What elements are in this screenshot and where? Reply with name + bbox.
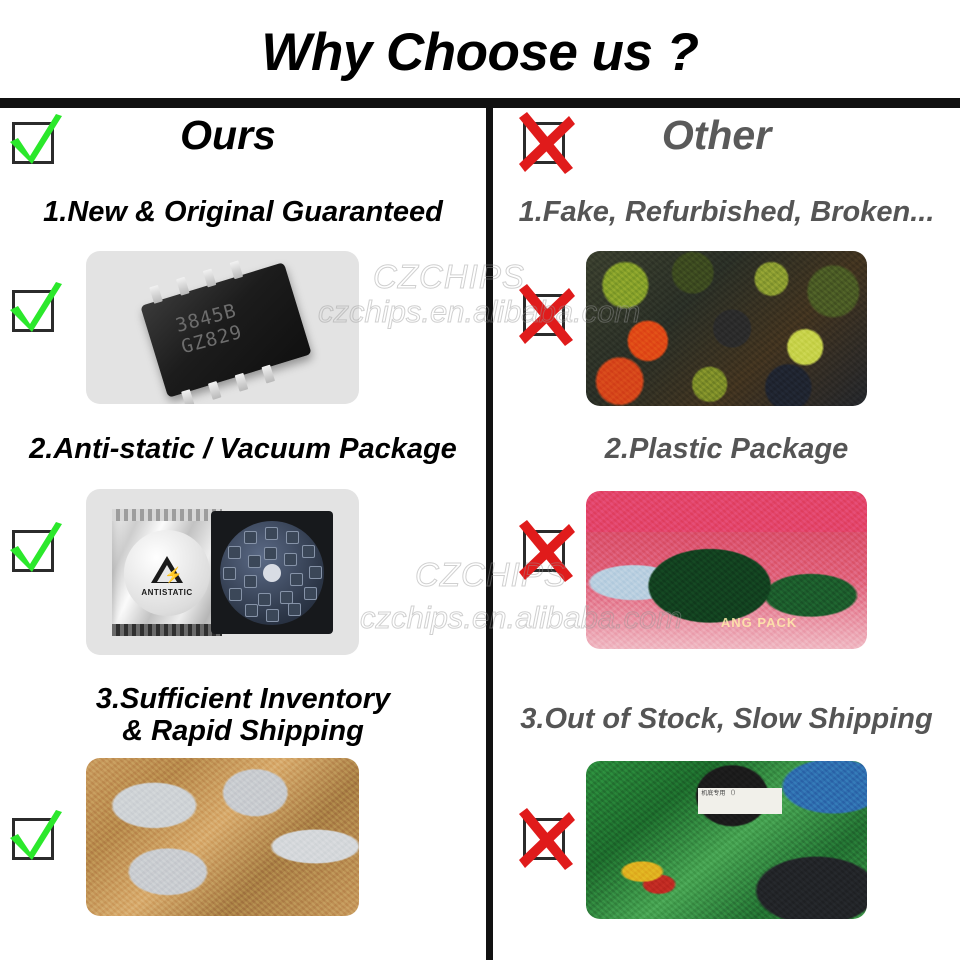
scrap-paper-label: 机底专用 （） — [698, 788, 782, 814]
photo-pink-plastic-bag-pcbs: ANG PACK — [586, 491, 867, 649]
vertical-divider — [486, 108, 493, 960]
lightning-bolt-icon: ⚡ — [164, 568, 183, 583]
photo-texture — [86, 758, 359, 916]
antistatic-bag: ⚡ ANTISTATIC — [112, 509, 222, 636]
horizontal-divider — [0, 98, 960, 108]
column-heading-ours: Ours — [0, 112, 486, 159]
ic-chip-body: 3845B GZ829 — [140, 262, 312, 398]
green-check-icon-3 — [4, 808, 68, 872]
red-cross-icon-2 — [515, 520, 579, 584]
column-ours: Ours 1.New & Original Guaranteed — [0, 108, 486, 960]
red-cross-icon-header — [515, 112, 579, 176]
antistatic-label: ANTISTATIC — [124, 588, 210, 597]
reel-hub — [263, 564, 281, 582]
feature-title-ours-2: 2.Anti-static / Vacuum Package — [0, 433, 486, 465]
photo-texture — [586, 761, 867, 919]
photo-scrap-cpu-pile — [586, 251, 867, 406]
chip-marking: 3845B GZ829 — [173, 299, 245, 358]
why-choose-us-comparison-graphic: Why Choose us ? Ours 1.New & Original Gu… — [0, 0, 960, 960]
red-cross-icon-1 — [515, 284, 579, 348]
column-other: Other 1.Fake, Refurbished, Broken... 2.P… — [493, 108, 960, 960]
reel-case — [211, 511, 333, 634]
photo-antistatic-bag-and-reel: ⚡ ANTISTATIC — [86, 489, 359, 655]
green-check-icon-header — [4, 112, 68, 176]
photo-ic-chip: 3845B GZ829 — [86, 251, 359, 404]
feature-title-other-2: 2.Plastic Package — [493, 433, 960, 465]
feature-title-other-1: 1.Fake, Refurbished, Broken... — [493, 196, 960, 228]
pack-text-overlay: ANG PACK — [721, 615, 797, 630]
green-check-icon-2 — [4, 520, 68, 584]
page-title: Why Choose us ? — [0, 22, 960, 83]
green-check-icon-1 — [4, 280, 68, 344]
photo-green-pcb-scrap: 机底专用 （） — [586, 761, 867, 919]
component-reel — [220, 521, 324, 625]
feature-title-ours-1: 1.New & Original Guaranteed — [0, 196, 486, 228]
photo-cartons-of-stock — [86, 758, 359, 916]
antistatic-disc: ⚡ ANTISTATIC — [124, 530, 210, 616]
feature-title-other-3: 3.Out of Stock, Slow Shipping — [493, 703, 960, 735]
feature-title-ours-3: 3.Sufficient Inventory & Rapid Shipping — [0, 683, 486, 748]
photo-texture — [586, 251, 867, 406]
red-cross-icon-3 — [515, 808, 579, 872]
